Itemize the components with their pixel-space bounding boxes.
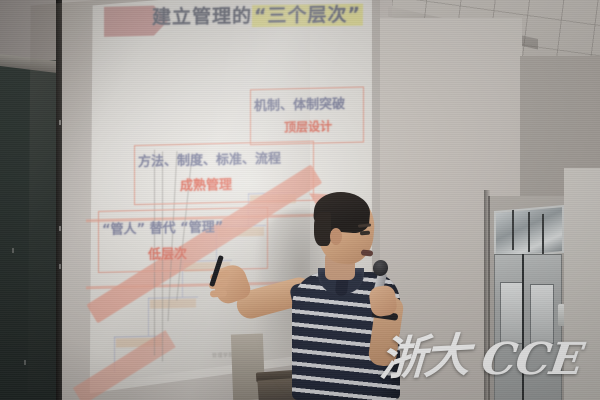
photo-canvas: 建立管理的“三个层次” 机制、体制突破 顶层设计 方法、制度、标准、流程 成熟管…: [0, 0, 600, 400]
slide-title-prefix: 建立管理的: [152, 5, 252, 28]
door-center-seam: [522, 254, 524, 400]
presenter-ear: [330, 228, 342, 245]
level-middle-line2: 成熟管理: [180, 174, 232, 194]
right-pillar: [564, 168, 600, 400]
level-bottom-line1: “管人” 替代 “管理”: [102, 216, 223, 238]
level-middle-line1: 方法、制度、标准、流程: [138, 148, 281, 170]
classroom-door[interactable]: [488, 196, 564, 400]
presenter-mouth: [361, 249, 374, 256]
presenter-eye: [360, 231, 370, 236]
level-top-line1: 机制、体制突破: [254, 93, 345, 114]
door-glass-panel-right: [530, 284, 554, 344]
presenter-right-hand: [368, 284, 398, 317]
presenter-sideburn: [314, 212, 331, 246]
blackboard: [0, 60, 57, 400]
door-glass-panel-left: [500, 282, 524, 344]
level-bottom-line2: 低层次: [148, 243, 187, 263]
slide-title: 建立管理的“三个层次”: [152, 0, 367, 30]
slide-title-highlight: “三个层次”: [252, 4, 363, 28]
level-top-line2: 顶层设计: [284, 117, 332, 135]
